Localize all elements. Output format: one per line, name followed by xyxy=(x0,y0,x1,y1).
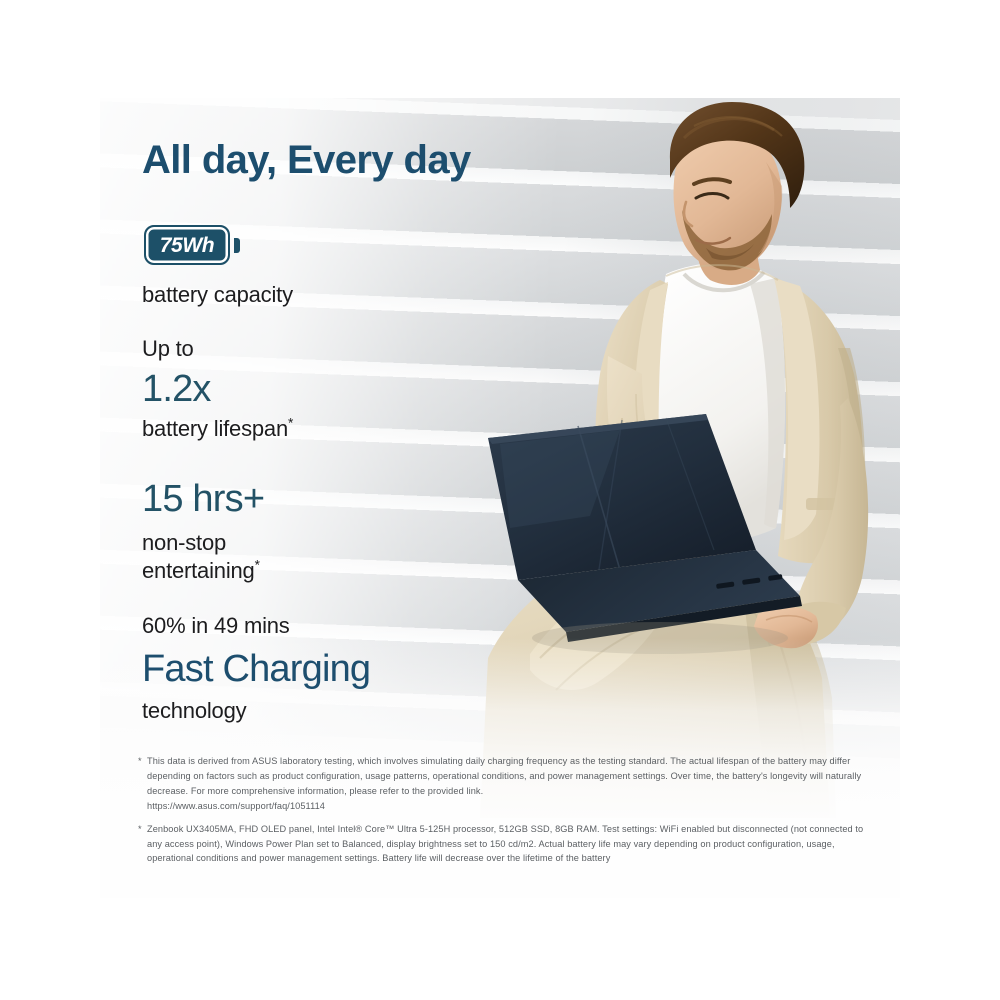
footnote-item: * Zenbook UX3405MA, FHD OLED panel, Inte… xyxy=(138,822,864,867)
fast-charging-value: Fast Charging xyxy=(142,650,370,688)
fast-charging-prefix: 60% in 49 mins xyxy=(142,613,290,639)
footnote-marker: * xyxy=(138,822,147,867)
lifespan-value: 1.2x xyxy=(142,370,211,408)
page-canvas: All day, Every day 75Wh battery capacity… xyxy=(0,0,1000,1000)
footnote-link[interactable]: https://www.asus.com/support/faq/1051114 xyxy=(147,799,864,814)
battery-terminal-icon xyxy=(234,238,240,253)
footnote-text: Zenbook UX3405MA, FHD OLED panel, Intel … xyxy=(147,822,864,867)
battery-capacity-badge: 75Wh xyxy=(144,225,240,265)
lifespan-caption-text: battery lifespan xyxy=(142,416,288,441)
fast-charging-caption: technology xyxy=(142,698,246,724)
footnote-text: This data is derived from ASUS laborator… xyxy=(147,756,861,796)
runtime-caption-line1: non-stop xyxy=(142,530,226,556)
runtime-caption-line2: entertaining* xyxy=(142,558,260,584)
lifespan-footnote-marker: * xyxy=(288,416,293,431)
battery-capacity-caption: battery capacity xyxy=(142,282,293,308)
footnote-body: This data is derived from ASUS laborator… xyxy=(147,754,864,814)
runtime-footnote-marker: * xyxy=(255,558,260,573)
lifespan-caption: battery lifespan* xyxy=(142,416,293,442)
battery-icon: 75Wh xyxy=(144,225,230,265)
page-title: All day, Every day xyxy=(142,138,471,183)
footnotes: * This data is derived from ASUS laborat… xyxy=(138,754,864,874)
runtime-value: 15 hrs+ xyxy=(142,480,264,518)
battery-capacity-value: 75Wh xyxy=(160,235,214,256)
footnote-item: * This data is derived from ASUS laborat… xyxy=(138,754,864,814)
footnote-marker: * xyxy=(138,754,147,814)
lifespan-prefix: Up to xyxy=(142,336,194,362)
product-banner-panel: All day, Every day 75Wh battery capacity… xyxy=(100,98,900,898)
runtime-caption-text: entertaining xyxy=(142,558,255,583)
